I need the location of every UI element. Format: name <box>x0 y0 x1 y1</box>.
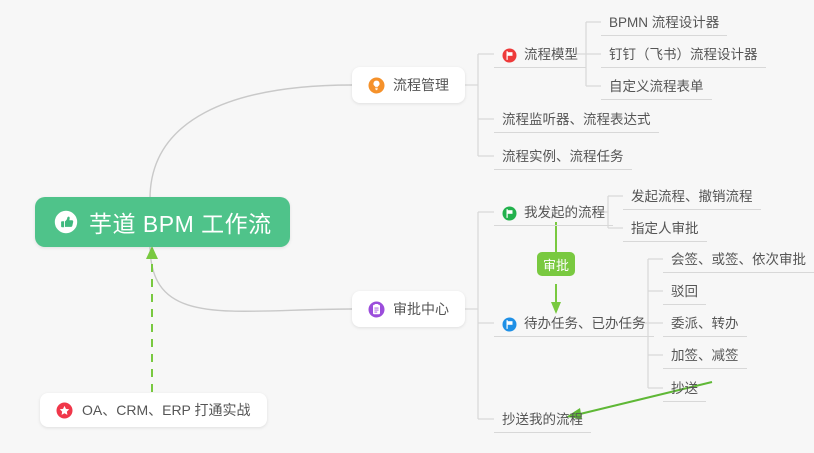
node-add-remove-sign[interactable]: 加签、减签 <box>663 341 747 369</box>
node-label-start-cancel: 发起流程、撤销流程 <box>631 185 753 205</box>
node-assignee-approve[interactable]: 指定人审批 <box>623 214 707 242</box>
flag-red-icon <box>502 48 517 63</box>
approval-tag[interactable]: 审批 <box>537 252 575 276</box>
node-multi-sign[interactable]: 会签、或签、依次审批 <box>663 245 814 273</box>
node-bpmn-designer[interactable]: BPMN 流程设计器 <box>601 8 727 36</box>
node-delegate-transfer[interactable]: 委派、转办 <box>663 309 747 337</box>
node-label-cc-to-me: 抄送我的流程 <box>502 408 583 428</box>
node-label-instance-task: 流程实例、流程任务 <box>502 145 624 165</box>
node-start-cancel[interactable]: 发起流程、撤销流程 <box>623 182 761 210</box>
flag-green-icon <box>502 206 517 221</box>
branch-label-approval-center: 审批中心 <box>393 299 449 319</box>
thumbs-up-icon <box>53 209 79 235</box>
node-instance-task[interactable]: 流程实例、流程任务 <box>494 142 632 170</box>
node-label-multi-sign: 会签、或签、依次审批 <box>671 248 806 268</box>
node-label-my-started: 我发起的流程 <box>524 201 605 221</box>
node-cc-to-me[interactable]: 抄送我的流程 <box>494 405 591 433</box>
node-dingtalk-designer[interactable]: 钉钉（飞书）流程设计器 <box>601 40 766 68</box>
clipboard-icon <box>368 301 385 318</box>
node-label-reject: 驳回 <box>671 280 698 300</box>
lightbulb-icon <box>368 77 385 94</box>
node-label-add-remove-sign: 加签、减签 <box>671 344 739 364</box>
root-node[interactable]: 芋道 BPM 工作流 <box>35 197 290 247</box>
flow-arrow-callout <box>146 246 158 392</box>
flag-blue-icon <box>502 317 517 332</box>
branch-node-approval-center[interactable]: 审批中心 <box>352 291 465 327</box>
node-label-bpmn-designer: BPMN 流程设计器 <box>609 11 719 31</box>
node-cc[interactable]: 抄送 <box>663 374 706 402</box>
node-label-cc: 抄送 <box>671 377 698 397</box>
node-label-listener-expression: 流程监听器、流程表达式 <box>502 108 651 128</box>
node-listener-expression[interactable]: 流程监听器、流程表达式 <box>494 105 659 133</box>
node-todo-done[interactable]: 待办任务、已办任务 <box>494 309 654 337</box>
branch-node-process-management[interactable]: 流程管理 <box>352 67 465 103</box>
node-reject[interactable]: 驳回 <box>663 277 706 305</box>
callout-label: OA、CRM、ERP 打通实战 <box>82 400 251 420</box>
node-label-dingtalk-designer: 钉钉（飞书）流程设计器 <box>609 43 758 63</box>
branch-label-process-management: 流程管理 <box>393 75 449 95</box>
node-label-assignee-approve: 指定人审批 <box>631 217 699 237</box>
node-label-delegate-transfer: 委派、转办 <box>671 312 739 332</box>
node-process-model[interactable]: 流程模型 <box>494 40 586 68</box>
node-label-process-model: 流程模型 <box>524 43 578 63</box>
approval-tag-label: 审批 <box>543 255 569 274</box>
root-label: 芋道 BPM 工作流 <box>89 205 272 239</box>
node-custom-form[interactable]: 自定义流程表单 <box>601 72 712 100</box>
star-icon <box>56 402 73 419</box>
callout-node-integration[interactable]: OA、CRM、ERP 打通实战 <box>40 393 267 427</box>
mindmap-canvas: 芋道 BPM 工作流 流程管理 流程模型 BPMN 流程设计器 钉钉（飞书）流程 <box>0 0 814 453</box>
node-my-started[interactable]: 我发起的流程 <box>494 198 613 226</box>
node-label-custom-form: 自定义流程表单 <box>609 75 704 95</box>
node-label-todo-done: 待办任务、已办任务 <box>524 312 646 332</box>
